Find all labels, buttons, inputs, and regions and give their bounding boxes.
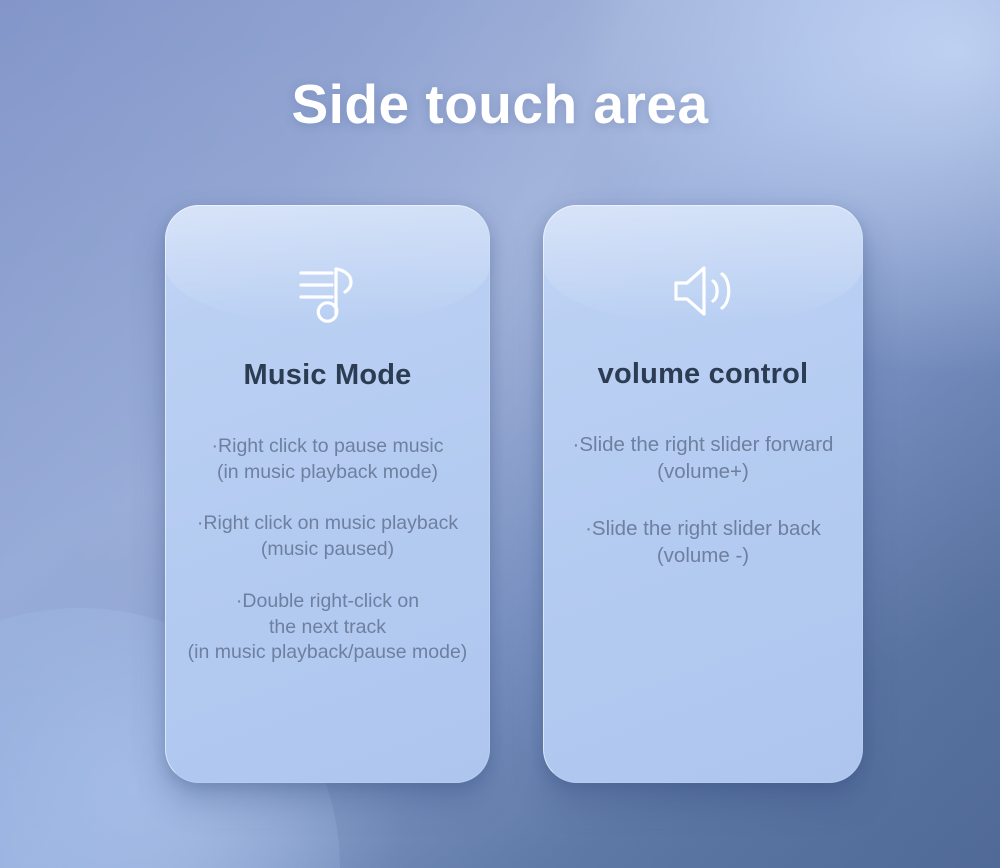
bullet-line: ·Right click on music playback: [171, 511, 484, 537]
bullet-line: ·Right click to pause music: [171, 434, 484, 460]
list-item: ·Right click to pause music (in music pl…: [171, 434, 484, 485]
bullet-line: (music paused): [171, 537, 484, 563]
bullet-line: (in music playback mode): [171, 460, 484, 486]
bullet-line: (volume+): [549, 458, 857, 485]
page-title: Side touch area: [0, 72, 1000, 136]
card-title-music-mode: Music Mode: [244, 359, 412, 392]
bullet-line: (volume -): [549, 542, 857, 569]
list-item: ·Slide the right slider forward (volume+…: [549, 431, 857, 485]
music-playlist-icon: [296, 257, 360, 329]
card-title-volume-control: volume control: [598, 358, 809, 391]
feature-card-list: Music Mode ·Right click to pause music (…: [165, 205, 865, 783]
bullet-line: ·Double right-click on: [171, 589, 484, 615]
bullet-line: ·Slide the right slider forward: [549, 431, 857, 458]
side-touch-area-panel: Side touch area Music Mode ·Right click …: [0, 0, 1000, 868]
list-item: ·Double right-click on the next track (i…: [171, 589, 484, 666]
bullet-line: (in music playback/pause mode): [171, 640, 484, 666]
bullet-line: ·Slide the right slider back: [549, 515, 857, 542]
card-body-music-mode: ·Right click to pause music (in music pl…: [165, 434, 490, 666]
list-item: ·Slide the right slider back (volume -): [549, 515, 857, 569]
card-body-volume-control: ·Slide the right slider forward (volume+…: [543, 431, 863, 599]
card-volume-control[interactable]: volume control ·Slide the right slider f…: [543, 205, 863, 783]
speaker-volume-icon: [670, 255, 736, 327]
list-item: ·Right click on music playback (music pa…: [171, 511, 484, 562]
card-music-mode[interactable]: Music Mode ·Right click to pause music (…: [165, 205, 490, 783]
bullet-line: the next track: [171, 615, 484, 641]
